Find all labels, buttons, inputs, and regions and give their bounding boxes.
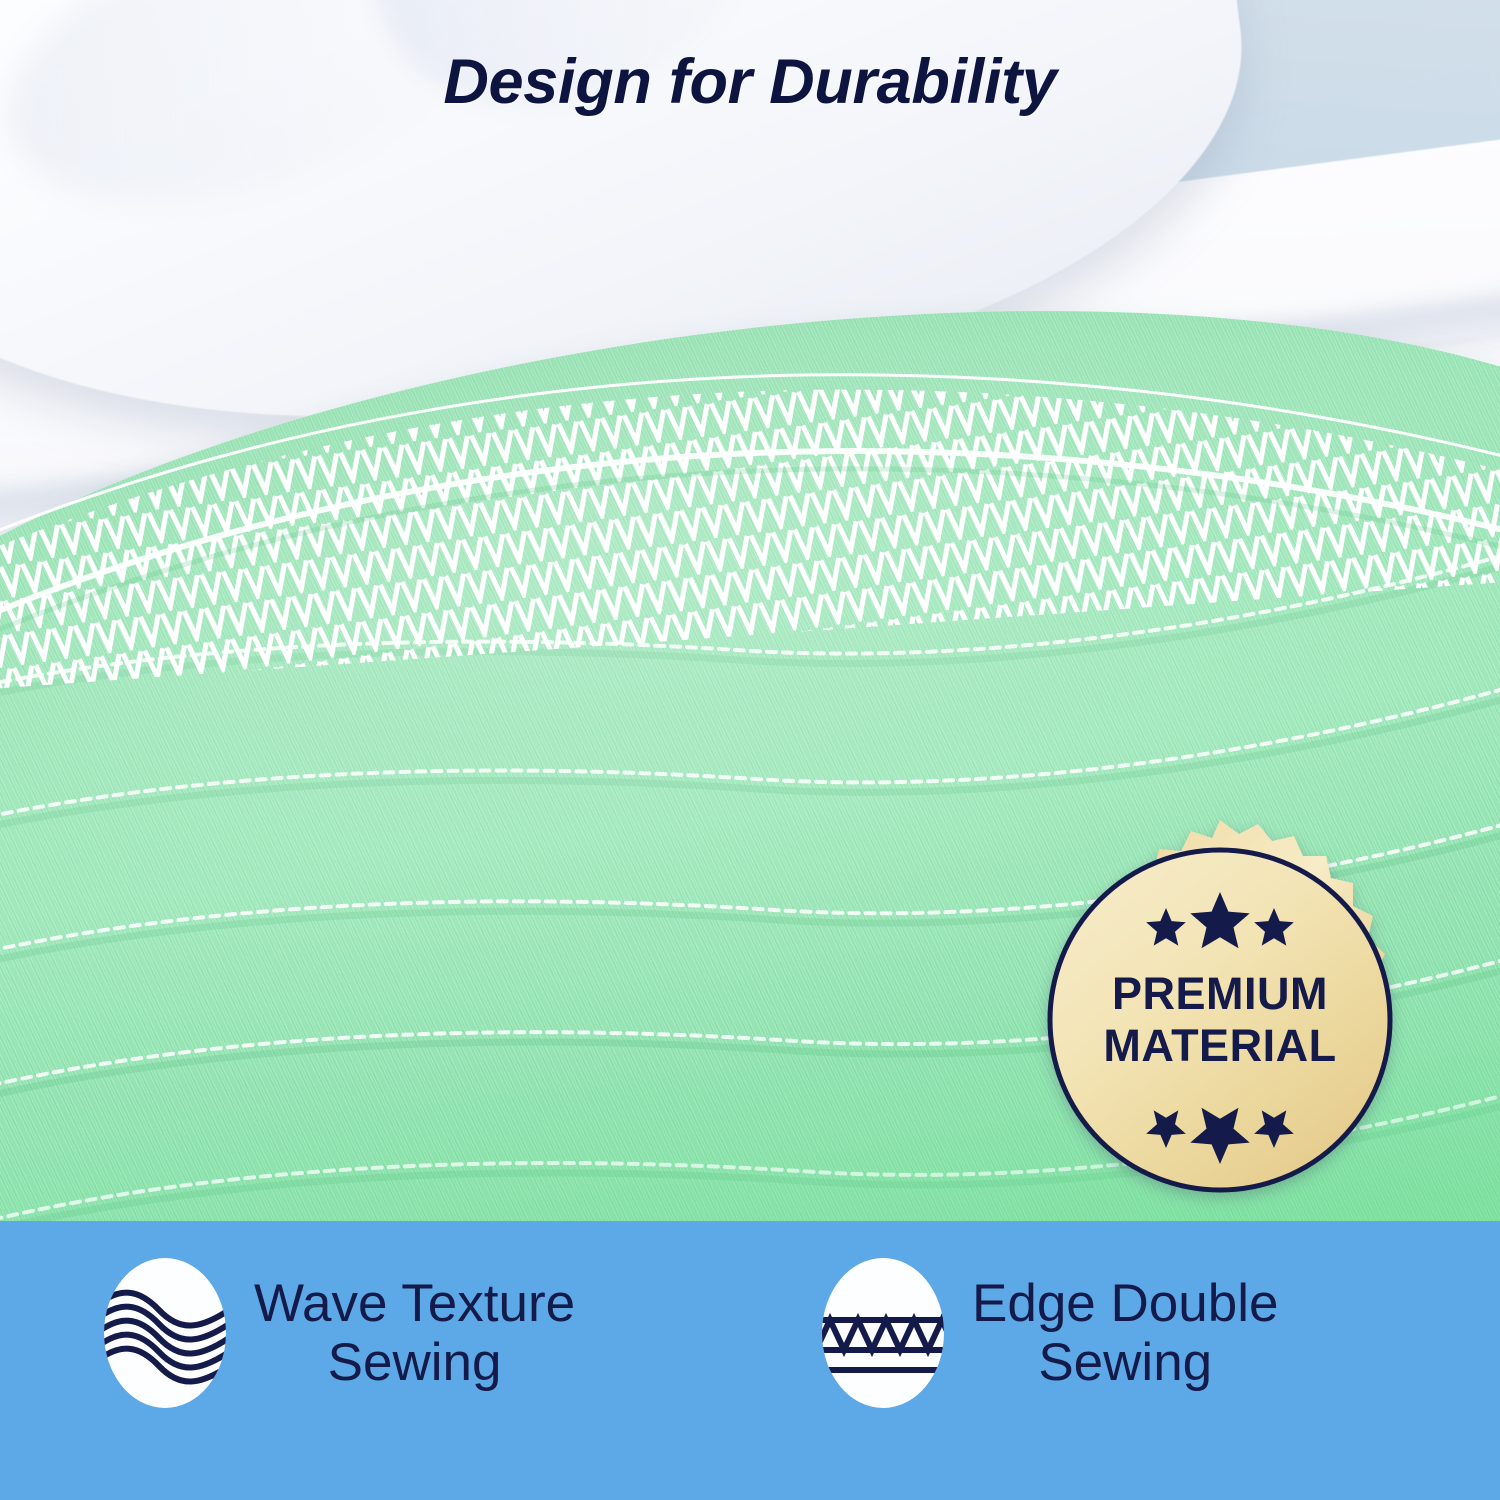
feature-edge-line-1: Edge Double (972, 1274, 1278, 1333)
wave-texture-icon (104, 1258, 226, 1408)
page-title: Design for Durability (0, 46, 1500, 118)
feature-wave-line-2: Sewing (254, 1333, 575, 1392)
feature-wave-line-1: Wave Texture (254, 1274, 575, 1333)
pillow-fold-highlight-secondary (0, 0, 544, 261)
product-marketing-image: Design for Durability (0, 0, 1500, 1500)
feature-edge-line-2: Sewing (972, 1333, 1278, 1392)
edge-double-stitch-icon (822, 1258, 944, 1408)
feature-edge-label: Edge Double Sewing (972, 1274, 1278, 1393)
premium-material-badge: PREMIUM MATERIAL (1018, 818, 1422, 1222)
feature-edge-double-sewing: Edge Double Sewing (822, 1258, 1278, 1408)
feature-wave-label: Wave Texture Sewing (254, 1274, 575, 1393)
feature-wave-texture-sewing: Wave Texture Sewing (104, 1258, 575, 1408)
badge-seal-shape (1018, 818, 1422, 1222)
